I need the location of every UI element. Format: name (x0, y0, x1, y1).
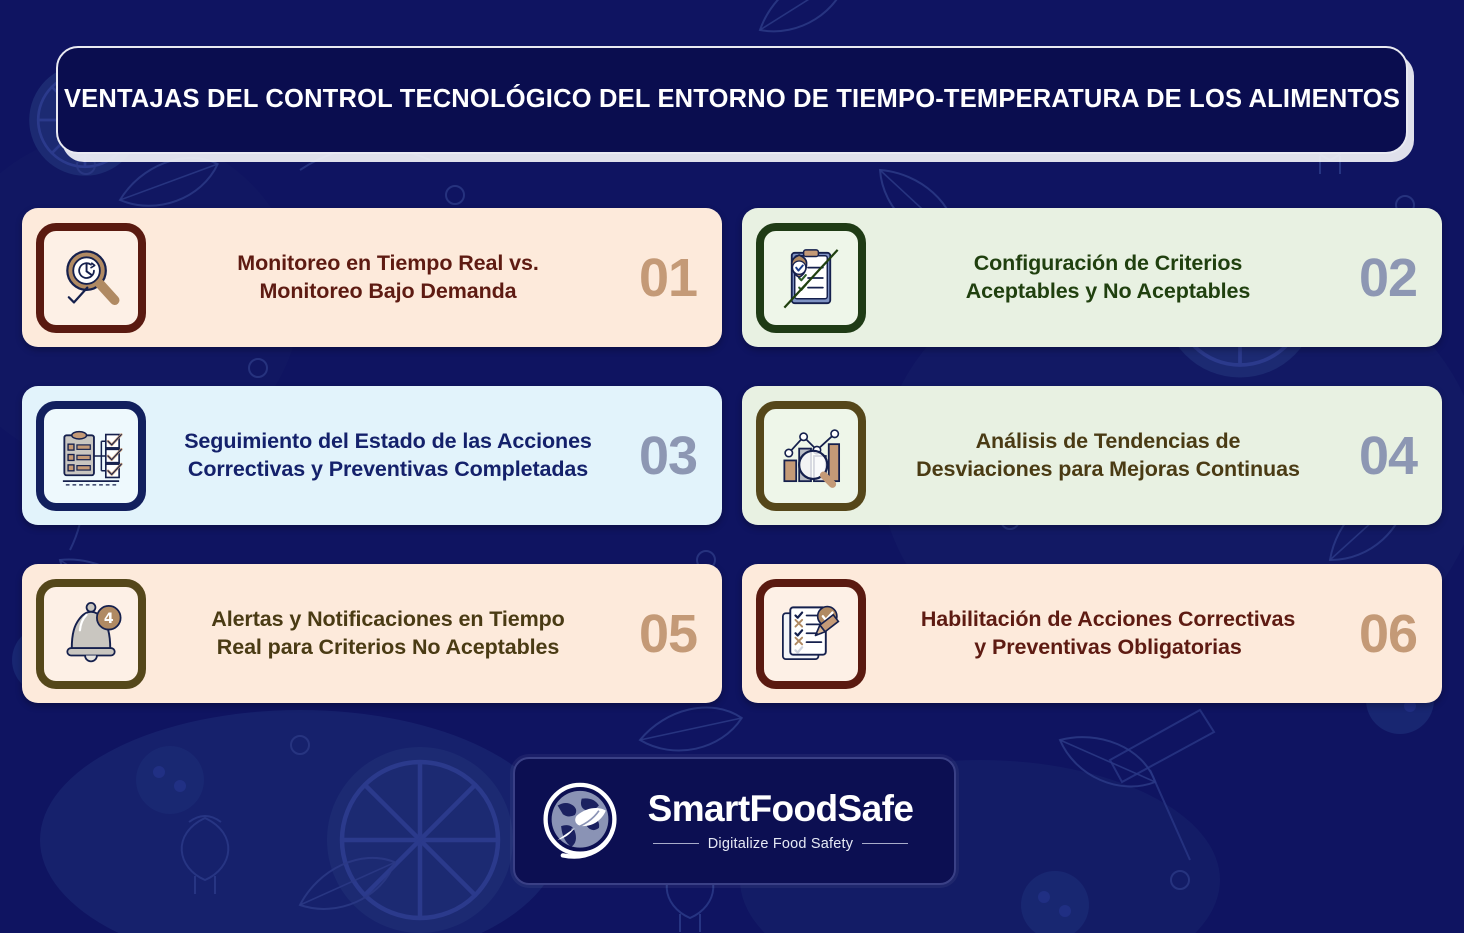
advantage-card-06[interactable]: Habilitación de Acciones Correctivas y P… (742, 564, 1442, 703)
advantage-title-line1: Alertas y Notificaciones en Tiempo (211, 607, 564, 631)
clipboard-checklist-flow-icon (36, 401, 146, 511)
brand-logo[interactable]: SmartFoodSafe Digitalize Food Safety (513, 757, 956, 885)
advantage-title-line1: Seguimiento del Estado de las Acciones (184, 429, 592, 453)
advantage-title-line1: Habilitación de Acciones Correctivas (921, 607, 1295, 631)
advantage-title-line2: Aceptables y No Aceptables (966, 279, 1251, 303)
advantage-card-title: Configuración de Criterios Aceptables y … (866, 250, 1350, 305)
advantage-card-number: 01 (630, 251, 706, 305)
title-banner-box: VENTAJAS DEL CONTROL TECNOLÓGICO DEL ENT… (56, 46, 1408, 154)
advantage-card-title: Habilitación de Acciones Correctivas y P… (866, 606, 1350, 661)
checklist-pencil-approve-icon (756, 579, 866, 689)
advantage-card-number: 06 (1350, 607, 1426, 661)
bell-notification-icon: 4 (36, 579, 146, 689)
advantage-title-line1: Monitoreo en Tiempo Real vs. (237, 251, 538, 275)
advantage-card-03[interactable]: Seguimiento del Estado de las Acciones C… (22, 386, 722, 525)
advantage-card-title: Alertas y Notificaciones en Tiempo Real … (146, 606, 630, 661)
title-banner: VENTAJAS DEL CONTROL TECNOLÓGICO DEL ENT… (56, 46, 1408, 154)
advantages-grid: Monitoreo en Tiempo Real vs. Monitoreo B… (22, 208, 1442, 703)
advantage-card-04[interactable]: Análisis de Tendencias de Desviaciones p… (742, 386, 1442, 525)
page-title: VENTAJAS DEL CONTROL TECNOLÓGICO DEL ENT… (64, 85, 1400, 114)
advantage-card-02[interactable]: Configuración de Criterios Aceptables y … (742, 208, 1442, 347)
infographic-canvas: VENTAJAS DEL CONTROL TECNOLÓGICO DEL ENT… (0, 0, 1464, 933)
advantage-card-05[interactable]: 4 Alertas y Notificaciones en Tiempo Rea… (22, 564, 722, 703)
advantage-title-line1: Configuración de Criterios (974, 251, 1243, 275)
globe-leaf-icon (537, 778, 623, 864)
logo-name: SmartFoodSafe (648, 790, 914, 829)
advantage-title-line2: Monitoreo Bajo Demanda (259, 279, 516, 303)
advantage-title-line2: y Preventivas Obligatorias (974, 635, 1241, 659)
bar-chart-magnifier-icon (756, 401, 866, 511)
clipboard-shield-slash-icon (756, 223, 866, 333)
advantage-title-line2: Desviaciones para Mejoras Continuas (916, 457, 1300, 481)
logo-text-block: SmartFoodSafe Digitalize Food Safety (623, 790, 932, 852)
bell-badge-count: 4 (104, 610, 114, 626)
advantage-card-number: 03 (630, 429, 706, 483)
logo-tagline: Digitalize Food Safety (708, 836, 853, 852)
advantage-title-line2: Real para Criterios No Aceptables (217, 635, 559, 659)
logo-dash-right (862, 843, 908, 844)
advantage-title-line1: Análisis de Tendencias de (976, 429, 1241, 453)
advantage-card-number: 05 (630, 607, 706, 661)
advantage-card-title: Monitoreo en Tiempo Real vs. Monitoreo B… (146, 250, 630, 305)
advantage-card-title: Análisis de Tendencias de Desviaciones p… (866, 428, 1350, 483)
advantage-card-number: 02 (1350, 251, 1426, 305)
magnifier-clock-check-icon (36, 223, 146, 333)
logo-dash-left (653, 843, 699, 844)
advantage-card-number: 04 (1350, 429, 1426, 483)
advantage-card-01[interactable]: Monitoreo en Tiempo Real vs. Monitoreo B… (22, 208, 722, 347)
advantage-title-line2: Correctivas y Preventivas Completadas (188, 457, 588, 481)
logo-tagline-row: Digitalize Food Safety (629, 836, 932, 852)
advantage-card-title: Seguimiento del Estado de las Acciones C… (146, 428, 630, 483)
